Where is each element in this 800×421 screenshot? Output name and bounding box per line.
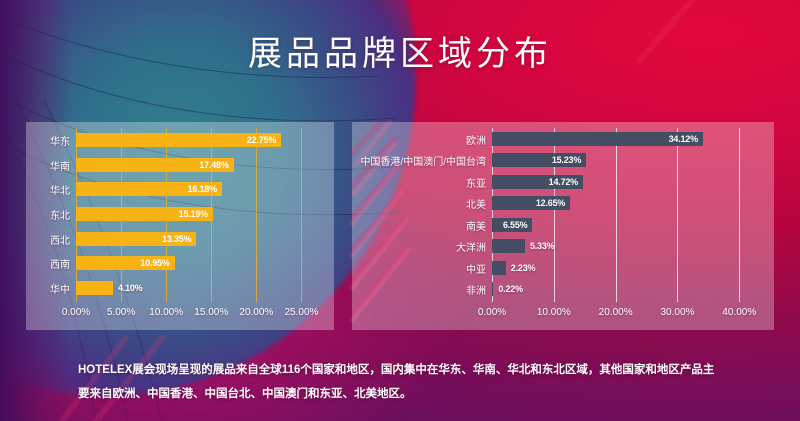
bar-value-label: 0.22% bbox=[493, 284, 523, 294]
bar[interactable]: 0.22% bbox=[492, 282, 493, 296]
gridline bbox=[739, 128, 740, 302]
bar[interactable]: 5.33% bbox=[492, 239, 525, 253]
chart-plot-overseas: 欧洲34.12%中国香港/中国澳门/中国台湾15.23%东亚14.72%北美12… bbox=[352, 122, 774, 330]
bar-value-label: 22.75% bbox=[247, 135, 281, 145]
category-label: 华北 bbox=[50, 182, 70, 197]
chart-panel-domestic: 华东22.75%华南17.48%华北16.18%东北15.19%西北13.35%… bbox=[26, 122, 334, 330]
bar-value-label: 12.65% bbox=[536, 198, 570, 208]
chart-panel-overseas: 欧洲34.12%中国香港/中国澳门/中国台湾15.23%东亚14.72%北美12… bbox=[352, 122, 774, 330]
footer-caption: HOTELEX展会现场呈现的展品来自全球116个国家和地区，国内集中在华东、华南… bbox=[78, 358, 722, 406]
bar[interactable]: 16.18% bbox=[76, 182, 222, 196]
gridline bbox=[301, 128, 302, 302]
bar-value-label: 16.18% bbox=[188, 184, 222, 194]
bar[interactable]: 15.19% bbox=[76, 207, 213, 221]
bar[interactable]: 22.75% bbox=[76, 133, 281, 147]
category-label: 华中 bbox=[50, 281, 70, 296]
category-label: 东北 bbox=[50, 207, 70, 222]
bar[interactable]: 10.95% bbox=[76, 256, 175, 270]
x-axis-tick-label: 10.00% bbox=[149, 307, 183, 318]
gridline bbox=[256, 128, 257, 302]
x-axis-tick-label: 10.00% bbox=[537, 307, 571, 318]
category-label: 中亚 bbox=[466, 261, 486, 276]
category-label: 非洲 bbox=[466, 282, 486, 297]
bar-value-label: 15.23% bbox=[552, 155, 586, 165]
x-axis-tick-label: 15.00% bbox=[194, 307, 228, 318]
bar[interactable]: 17.48% bbox=[76, 158, 234, 172]
bar-value-label: 13.35% bbox=[162, 234, 196, 244]
x-axis-tick-label: 20.00% bbox=[599, 307, 633, 318]
bar[interactable]: 15.23% bbox=[492, 153, 586, 167]
x-axis-tick-label: 0.00% bbox=[62, 307, 90, 318]
category-label: 欧洲 bbox=[466, 132, 486, 147]
category-label: 华东 bbox=[50, 133, 70, 148]
gridline bbox=[677, 128, 678, 302]
category-label: 南美 bbox=[466, 218, 486, 233]
gridline bbox=[616, 128, 617, 302]
bar-value-label: 6.55% bbox=[503, 220, 533, 230]
bar-value-label: 2.23% bbox=[506, 263, 536, 273]
x-axis-tick-label: 20.00% bbox=[239, 307, 273, 318]
bar-value-label: 4.10% bbox=[113, 283, 143, 293]
bar[interactable]: 13.35% bbox=[76, 232, 196, 246]
bar-value-label: 15.19% bbox=[179, 209, 213, 219]
x-axis-tick-label: 0.00% bbox=[478, 307, 506, 318]
category-label: 西北 bbox=[50, 232, 70, 247]
category-label: 东亚 bbox=[466, 175, 486, 190]
x-axis-tick-label: 30.00% bbox=[660, 307, 694, 318]
category-label: 中国香港/中国澳门/中国台湾 bbox=[360, 153, 486, 168]
category-label: 大洋洲 bbox=[456, 239, 486, 254]
bar-value-label: 14.72% bbox=[549, 177, 583, 187]
category-label: 北美 bbox=[466, 196, 486, 211]
bar[interactable]: 6.55% bbox=[492, 218, 532, 232]
x-axis-tick-label: 5.00% bbox=[107, 307, 135, 318]
bar[interactable]: 14.72% bbox=[492, 175, 583, 189]
chart-plot-domestic: 华东22.75%华南17.48%华北16.18%东北15.19%西北13.35%… bbox=[26, 122, 334, 330]
bar-value-label: 10.95% bbox=[140, 258, 174, 268]
bar-value-label: 17.48% bbox=[199, 160, 233, 170]
bar[interactable]: 12.65% bbox=[492, 196, 570, 210]
bar[interactable]: 4.10% bbox=[76, 281, 113, 295]
bar-value-label: 34.12% bbox=[669, 134, 703, 144]
slide-root: 展品品牌区域分布 华东22.75%华南17.48%华北16.18%东北15.19… bbox=[0, 0, 800, 421]
page-title: 展品品牌区域分布 bbox=[0, 26, 800, 75]
bar[interactable]: 34.12% bbox=[492, 132, 703, 146]
bar[interactable]: 2.23% bbox=[492, 261, 506, 275]
category-label: 华南 bbox=[50, 158, 70, 173]
bar-value-label: 5.33% bbox=[525, 241, 555, 251]
category-label: 西南 bbox=[50, 256, 70, 271]
x-axis-tick-label: 25.00% bbox=[284, 307, 318, 318]
x-axis-tick-label: 40.00% bbox=[722, 307, 756, 318]
